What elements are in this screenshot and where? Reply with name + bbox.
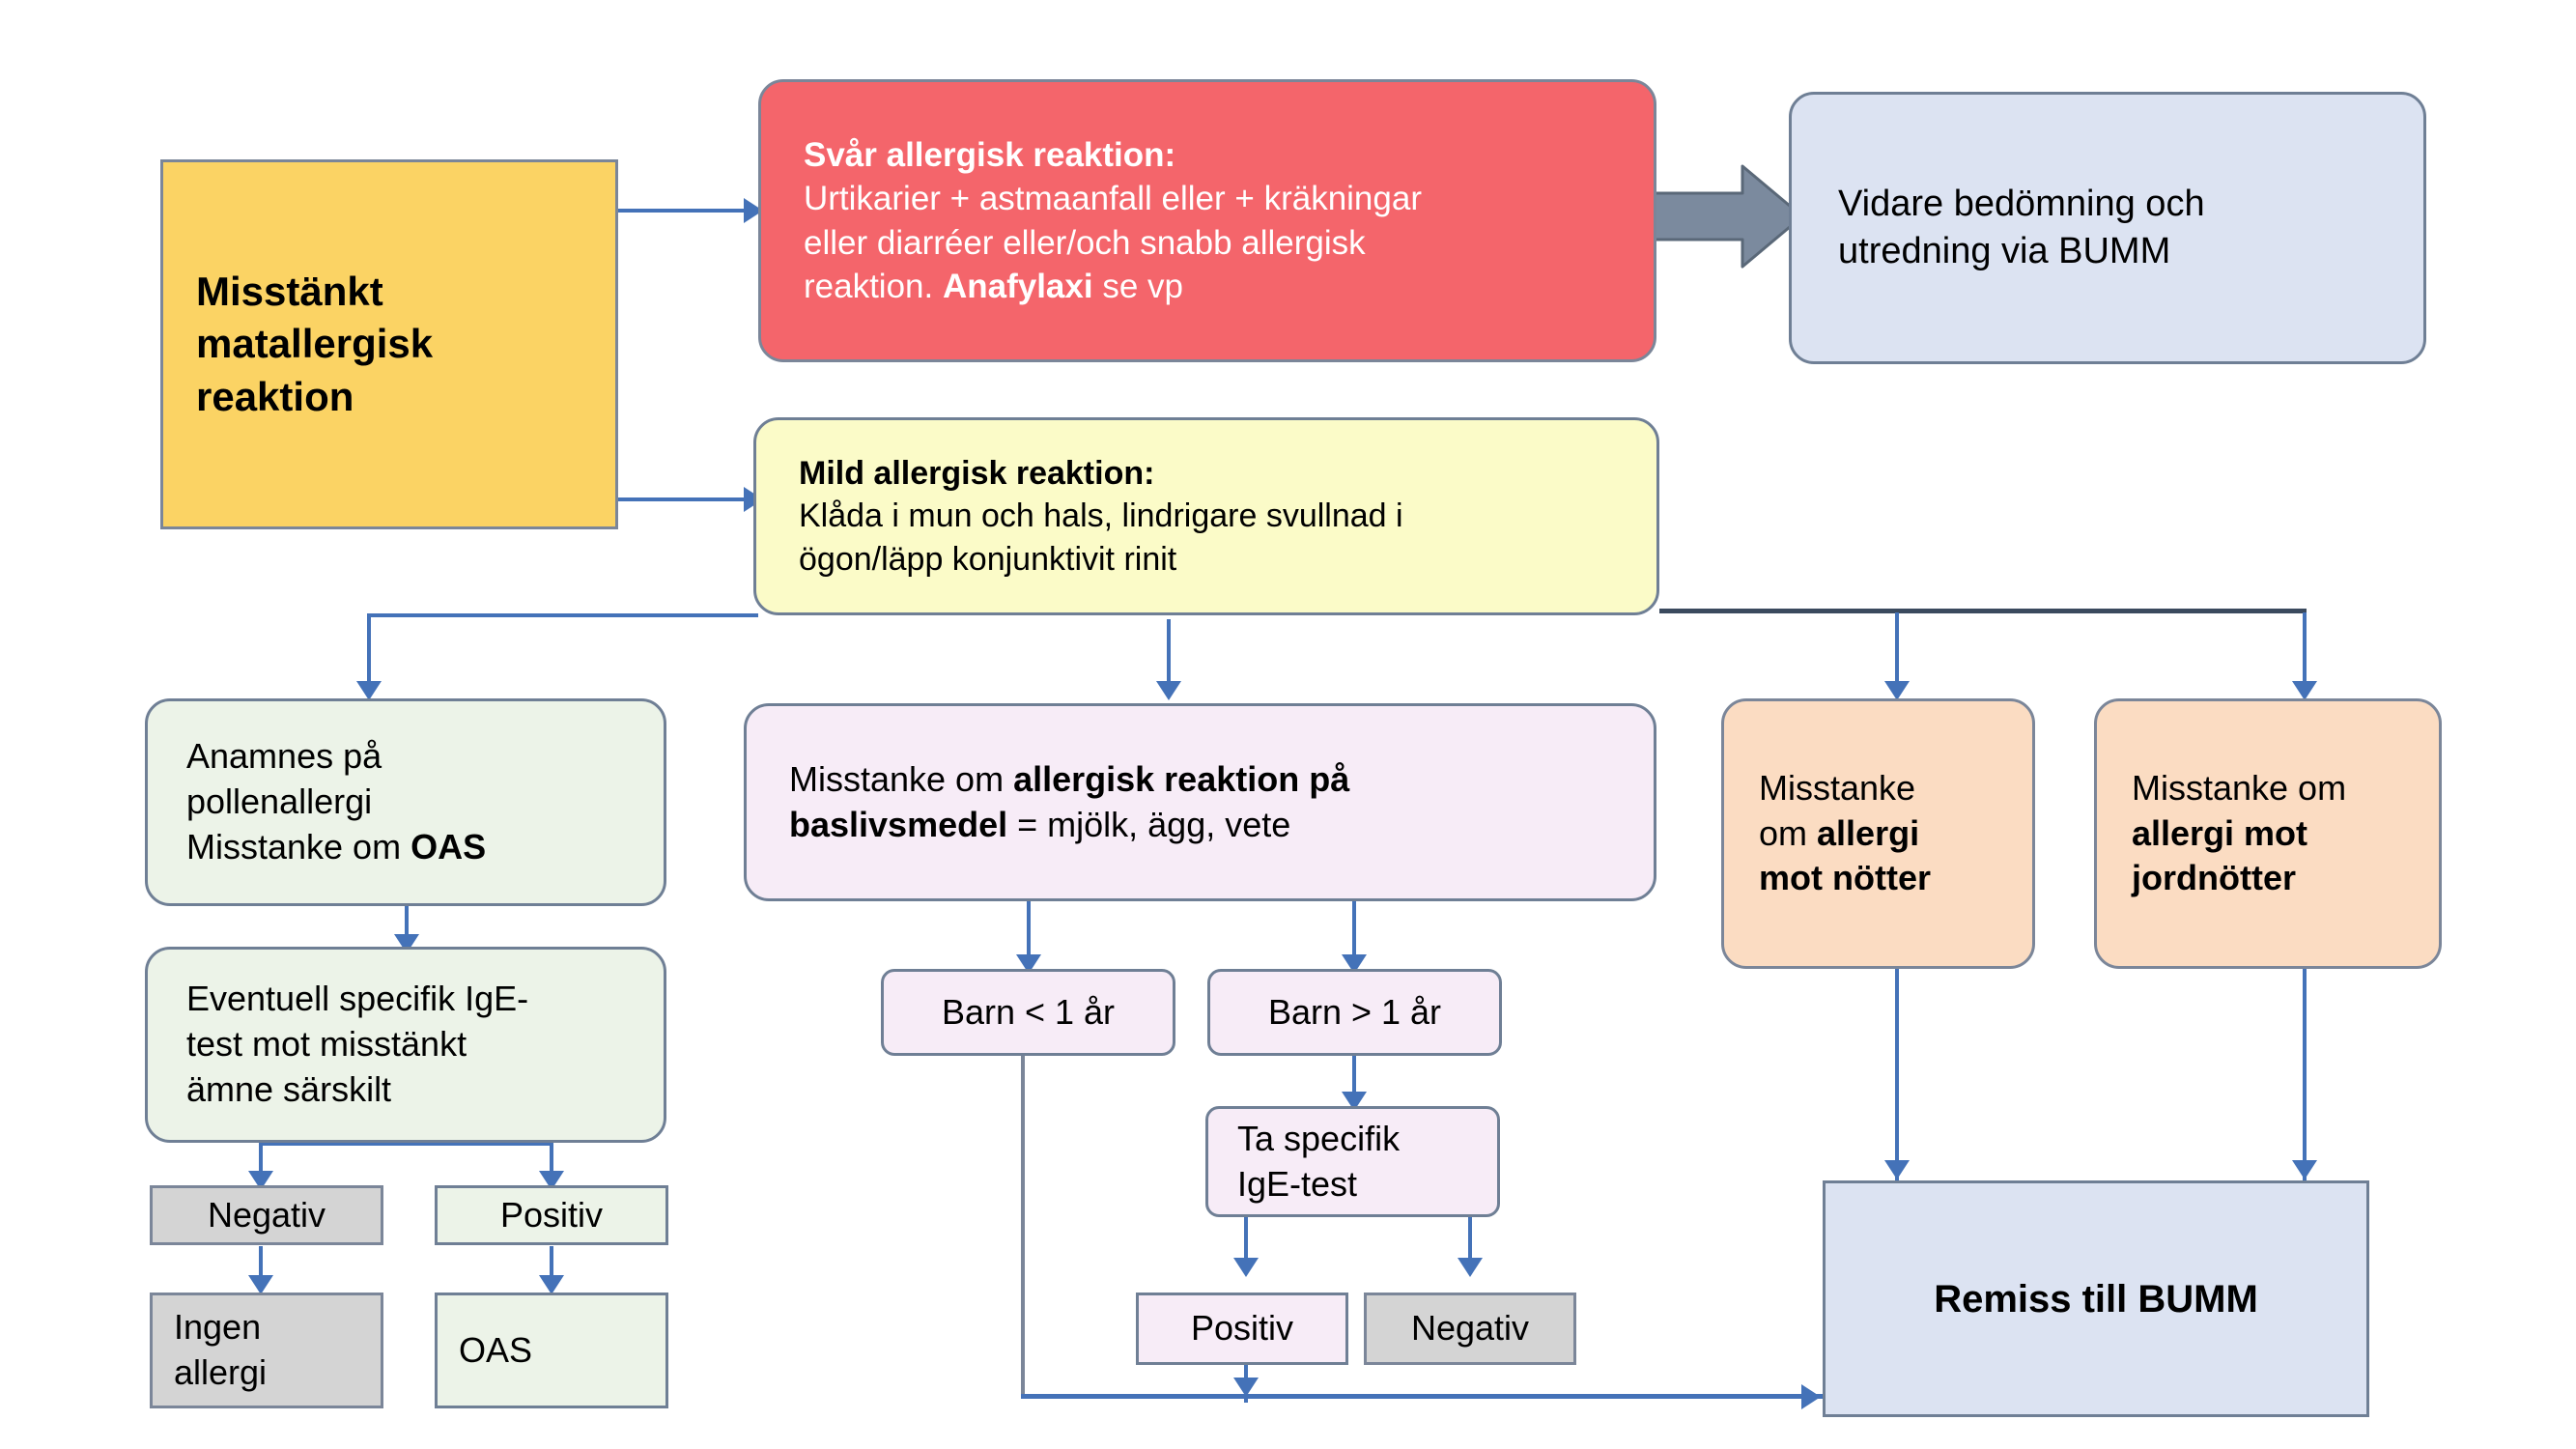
node-jordnotter-line2: allergi mot [2132,811,2439,857]
node-start[interactable]: Misstänkt matallergisk reaktion [160,159,618,529]
node-ingen-allergi-line1: Ingen [174,1305,381,1350]
arrowhead-to-jordnotter [2292,681,2317,700]
arrowhead-negativ-to-ingen [248,1275,273,1294]
arrowhead-positiv-to-oas [539,1275,564,1294]
arrowhead-to-notter [1884,681,1910,700]
node-baslivsmedel-line1: Misstanke om allergisk reaktion på [789,757,1621,803]
node-baslivsmedel-line2-post: = mjölk, ägg, vete [1007,805,1290,844]
node-baslivsmedel[interactable]: Misstanke om allergisk reaktion på basli… [744,703,1656,901]
node-jordnotter-line3: jordnötter [2132,856,2439,901]
connector-mild-right-horizontal [1659,609,2307,613]
node-allergi-notter[interactable]: Misstanke om allergi mot nötter [1721,698,2035,969]
node-positiv-mid[interactable]: Positiv [1136,1293,1348,1365]
node-anamnes-line1: Anamnes på [186,734,631,780]
node-ta-ige-line2: IgE-test [1237,1162,1497,1207]
node-bumm-line2: utredning via BUMM [1838,228,2391,275]
node-ingen-allergi-line2: allergi [174,1350,381,1396]
node-start-line2: matallergisk [196,318,582,371]
connector-mild-left-horizontal [367,613,758,617]
node-oas-label: OAS [459,1328,665,1374]
arrowhead-to-anamnes [356,681,382,700]
node-notter-line3: mot nötter [1759,856,2032,901]
node-notter-line2: om allergi [1759,811,2032,857]
node-negativ-left[interactable]: Negativ [150,1185,383,1245]
connector-mild-left-vertical [367,613,371,691]
node-positiv-left-label: Positiv [500,1193,603,1238]
node-baslivsmedel-line1-pre: Misstanke om [789,759,1013,799]
connector-jordnotter-to-remiss [2303,969,2307,1183]
node-bumm-line1: Vidare bedömning och [1838,181,2391,228]
node-severe-heading: Svår allergisk reaktion: [804,133,1621,178]
node-oas[interactable]: OAS [435,1293,668,1408]
connector-bottom-to-remiss [1021,1394,1823,1399]
node-mild-body-b: ögon/läpp konjunktivit rinit [799,538,1624,581]
node-severe-body-b: eller diarréer eller/och snabb allergisk [804,221,1621,266]
node-ta-specifik-ige-test[interactable]: Ta specifik IgE-test [1205,1106,1500,1217]
node-notter-line2-bold: allergi [1817,813,1919,853]
node-baslivsmedel-line1-bold: allergisk reaktion på [1013,759,1349,799]
node-mild-body-a: Klåda i mun och hals, lindrigare svullna… [799,495,1624,537]
node-anamnes-line3: Misstanke om OAS [186,825,631,870]
node-anamnes-pollenallergi[interactable]: Anamnes på pollenallergi Misstanke om OA… [145,698,666,906]
node-barn-over-1-label: Barn > 1 år [1268,990,1441,1036]
node-mild-heading: Mild allergisk reaktion: [799,452,1624,495]
node-severe-body-c: reaktion. Anafylaxi se vp [804,265,1621,309]
node-remiss-till-bumm[interactable]: Remiss till BUMM [1823,1180,2369,1417]
node-anamnes-line3-pre: Misstanke om [186,827,410,867]
node-ta-ige-line1: Ta specifik [1237,1117,1497,1162]
arrowhead-to-baslivsmedel [1156,681,1181,700]
node-bumm-evaluation[interactable]: Vidare bedömning och utredning via BUMM [1789,92,2426,364]
node-barn-under-1-label: Barn < 1 år [942,990,1115,1036]
node-notter-line1: Misstanke [1759,766,2032,811]
node-anamnes-line2: pollenallergi [186,780,631,825]
node-baslivsmedel-line2: baslivsmedel = mjölk, ägg, vete [789,803,1621,848]
node-ige-left-line3: ämne särskilt [186,1067,631,1113]
arrowhead-jordnotter-to-remiss [2292,1160,2317,1179]
node-positiv-left[interactable]: Positiv [435,1185,668,1245]
node-negativ-mid-label: Negativ [1411,1306,1529,1351]
connector-notter-to-remiss [1895,969,1899,1183]
node-ige-left-line1: Eventuell specifik IgE- [186,977,631,1022]
node-baslivsmedel-line2-bold: baslivsmedel [789,805,1007,844]
node-barn-under-1[interactable]: Barn < 1 år [881,969,1175,1056]
node-severe-body-c-pre: reaktion. [804,268,943,305]
node-negativ-left-label: Negativ [208,1193,326,1238]
node-remiss-label: Remiss till BUMM [1934,1274,2258,1324]
node-severe-reaction[interactable]: Svår allergisk reaktion: Urtikarier + as… [758,79,1656,362]
node-severe-body-a: Urtikarier + astmaanfall eller + kräknin… [804,177,1621,221]
block-arrow-icon [1650,162,1804,270]
arrowhead-bottom-to-remiss [1801,1384,1821,1409]
connector-start-to-mild [616,497,751,501]
node-positiv-mid-label: Positiv [1191,1306,1293,1351]
node-eventuell-ige-test[interactable]: Eventuell specifik IgE- test mot misstän… [145,947,666,1143]
node-severe-body-c-bold: Anafylaxi [943,268,1093,305]
node-start-line1: Misstänkt [196,266,582,319]
node-barn-over-1[interactable]: Barn > 1 år [1207,969,1502,1056]
node-negativ-mid[interactable]: Negativ [1364,1293,1576,1365]
flowchart-canvas: Misstänkt matallergisk reaktion Svår all… [0,0,2576,1449]
node-jordnotter-line1: Misstanke om [2132,766,2439,811]
node-notter-line2-pre: om [1759,813,1817,853]
arrowhead-notter-to-remiss [1884,1160,1910,1179]
node-anamnes-line3-bold: OAS [410,827,486,867]
connector-start-to-severe [616,209,751,213]
arrowhead-ta-ige-to-negativ [1458,1258,1483,1277]
node-ige-left-line2: test mot misstänkt [186,1022,631,1067]
node-allergi-jordnotter[interactable]: Misstanke om allergi mot jordnötter [2094,698,2442,969]
node-severe-body-c-post: se vp [1093,268,1183,305]
node-mild-reaction[interactable]: Mild allergisk reaktion: Klåda i mun och… [753,417,1659,615]
node-ingen-allergi[interactable]: Ingen allergi [150,1293,383,1408]
node-start-line3: reaktion [196,371,582,424]
arrowhead-ta-ige-to-positiv [1233,1258,1259,1277]
connector-barn-under-1-down [1021,1055,1025,1397]
